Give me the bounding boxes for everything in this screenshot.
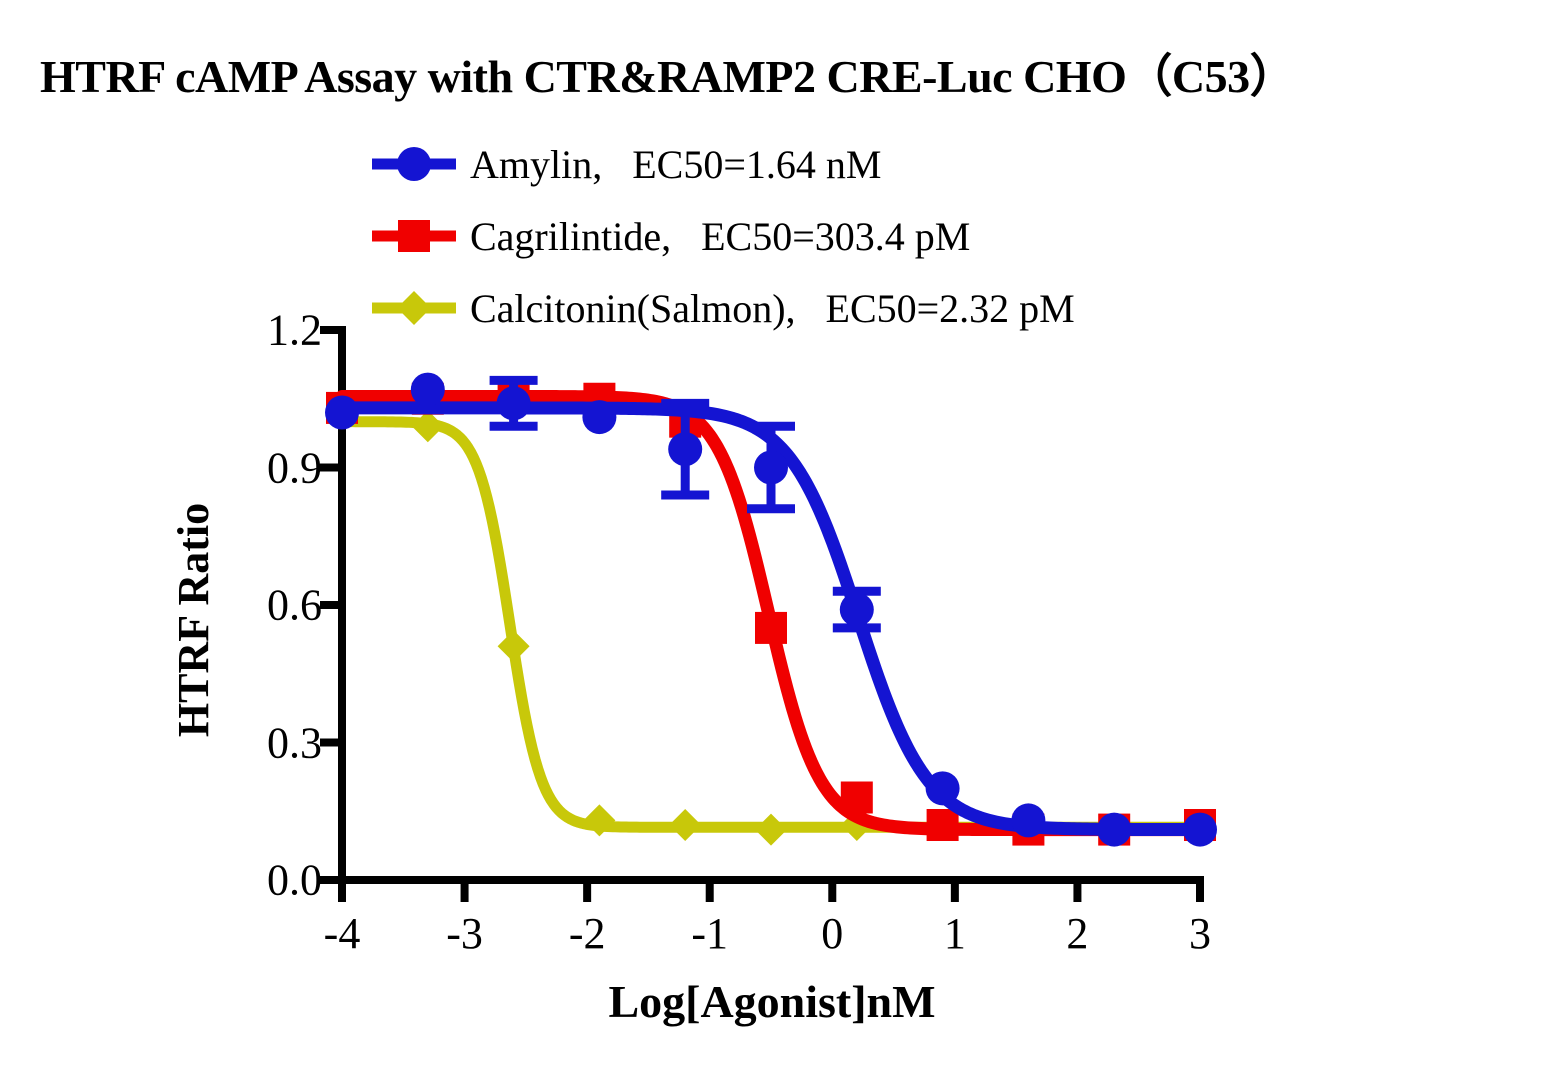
data-point-circle: [1097, 813, 1131, 847]
data-point-circle: [754, 451, 788, 485]
data-point-circle: [1183, 813, 1217, 847]
data-point-circle: [840, 593, 874, 627]
data-point-diamond: [669, 809, 701, 841]
data-point-square: [841, 782, 873, 814]
data-point-diamond: [755, 814, 787, 846]
data-point-square: [755, 612, 787, 644]
data-point-circle: [411, 373, 445, 407]
plot-area: [0, 0, 1568, 1080]
data-point-square: [927, 809, 959, 841]
chart-figure: HTRF cAMP Assay with CTR&RAMP2 CRE-Luc C…: [0, 0, 1568, 1080]
data-point-diamond: [412, 410, 444, 442]
data-point-diamond: [498, 630, 530, 662]
data-point-circle: [497, 386, 531, 420]
data-point-circle: [1011, 803, 1045, 837]
data-point-circle: [668, 432, 702, 466]
data-point-circle: [325, 396, 359, 430]
data-point-circle: [926, 771, 960, 805]
data-point-circle: [582, 400, 616, 434]
